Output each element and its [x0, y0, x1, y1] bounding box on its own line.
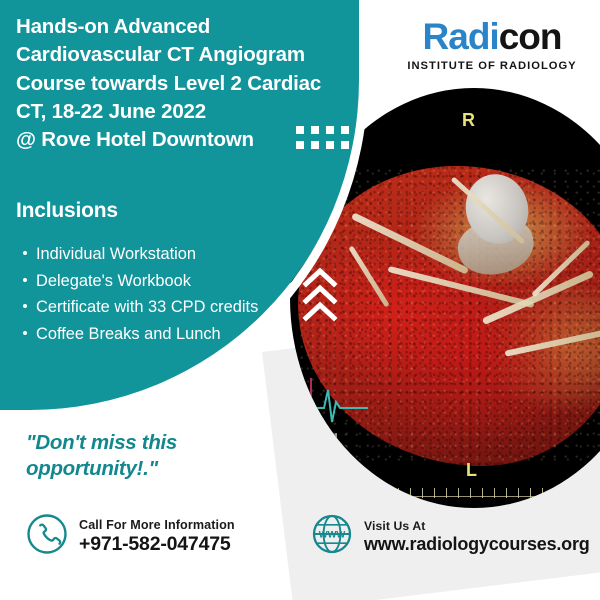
contact-website[interactable]: WWW Visit Us At www.radiologycourses.org [311, 513, 590, 560]
inclusions-title: Inclusions [16, 199, 118, 223]
poster-root: R L ▮▮ Radicon INSTITUTE OF RADIOLOGY Ha… [0, 0, 600, 600]
globe-www-icon: WWW [311, 513, 353, 560]
quote-line-2: opportunity!." [26, 456, 286, 482]
dot [296, 126, 304, 134]
contact-phone-label: Call For More Information [79, 518, 235, 532]
triple-chevron-up-icon [300, 268, 340, 324]
phone-icon [26, 513, 68, 560]
contact-website-value[interactable]: www.radiologycourses.org [364, 534, 590, 555]
quote-line-1: "Don't miss this [26, 430, 286, 456]
dot [311, 141, 319, 149]
headline-line-1: Hands-on Advanced [16, 13, 368, 41]
headline-line-3: Course towards Level 2 Cardiac [16, 70, 368, 98]
headline-line-2: Cardiovascular CT Angiogram [16, 41, 368, 69]
brand-logo: Radicon INSTITUTE OF RADIOLOGY [384, 0, 600, 86]
dot [326, 126, 334, 134]
dot [311, 126, 319, 134]
ecg-marker-line [310, 378, 312, 430]
contact-website-label: Visit Us At [364, 519, 590, 533]
dot [296, 141, 304, 149]
ct-orientation-marker-right: R [462, 110, 476, 131]
ct-scale-ruler-baseline [326, 496, 600, 497]
logo-subtitle: INSTITUTE OF RADIOLOGY [407, 60, 576, 72]
list-item: Individual Workstation [36, 241, 258, 268]
headline-line-4: CT, 18-22 June 2022 [16, 98, 368, 126]
list-item: Certificate with 33 CPD credits [36, 294, 258, 321]
ct-orientation-marker-left: L [466, 460, 478, 481]
dot [341, 126, 349, 134]
logo-wordmark: Radicon [423, 18, 562, 55]
logo-word-con: con [499, 16, 562, 57]
list-item: Delegate's Workbook [36, 268, 258, 295]
list-item: Coffee Breaks and Lunch [36, 321, 258, 348]
dot [341, 141, 349, 149]
ecg-waveform-icon: ▮▮ [308, 378, 378, 438]
quote-text: "Don't miss this opportunity!." [26, 430, 286, 482]
ecg-trace-svg [308, 378, 378, 434]
dot [326, 141, 334, 149]
inclusions-list: Individual Workstation Delegate's Workbo… [16, 241, 258, 347]
ecg-caption: ▮▮ [330, 432, 339, 439]
contact-phone-text: Call For More Information +971-582-04747… [79, 518, 235, 556]
svg-text:WWW: WWW [319, 528, 346, 539]
contact-phone[interactable]: Call For More Information +971-582-04747… [26, 513, 235, 560]
contact-website-text: Visit Us At www.radiologycourses.org [364, 519, 590, 555]
dot-grid-icon [296, 126, 349, 149]
logo-word-radi: Radi [423, 16, 499, 57]
contact-phone-value[interactable]: +971-582-047475 [79, 533, 235, 556]
